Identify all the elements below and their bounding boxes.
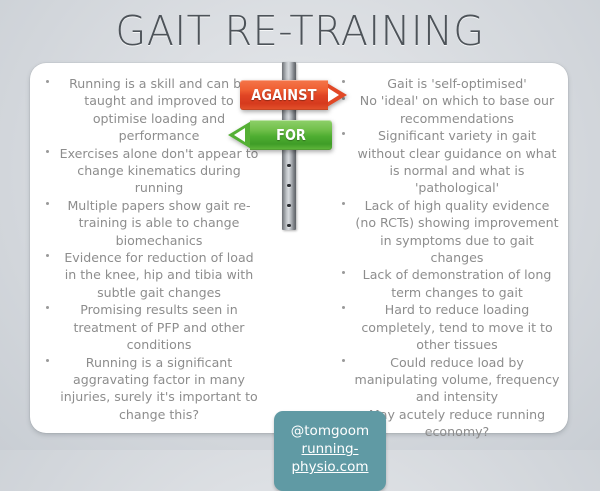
bullet-dot <box>46 80 49 83</box>
against-sign-label: AGAINST <box>246 80 322 110</box>
page-title: GAIT RE-TRAINING <box>9 6 591 56</box>
against-sign: AGAINST <box>240 80 348 110</box>
list-item: Promising results seen in treatment of P… <box>44 301 262 353</box>
list-item: Gait is 'self-optimised' <box>340 75 562 92</box>
list-item: Lack of demonstration of long term chang… <box>340 266 562 301</box>
column-against-side: Gait is 'self-optimised' No 'ideal' on w… <box>340 75 562 441</box>
bullet-dot <box>46 202 49 205</box>
list-item: No 'ideal' on which to base our recommen… <box>340 92 562 127</box>
bullet-dot <box>46 150 49 153</box>
contact-card[interactable]: @tomgoom running- physio.com <box>274 411 386 491</box>
list-item: Exercises alone don't appear to change k… <box>44 145 262 197</box>
for-sign: FOR <box>228 120 332 150</box>
website-link-line2[interactable]: physio.com <box>274 458 386 476</box>
website-link-line1[interactable]: running- <box>274 440 386 458</box>
list-item: Running is a significant aggravating fac… <box>44 354 262 424</box>
list-item: Significant variety in gait without clea… <box>340 127 562 197</box>
list-item: Lack of high quality evidence (no RCTs) … <box>340 197 562 267</box>
bullet-dot <box>46 306 49 309</box>
bullet-dot <box>46 359 49 362</box>
signpost-graphic: AGAINST FOR <box>232 62 364 232</box>
list-item: Hard to reduce loading completely, tend … <box>340 301 562 353</box>
list-item: Multiple papers show gait re-training is… <box>44 197 262 249</box>
bullet-dot <box>46 254 49 257</box>
chevron-left-icon <box>234 128 245 142</box>
list-item: Could reduce load by manipulating volume… <box>340 354 562 406</box>
for-sign-label: FOR <box>256 120 327 150</box>
list-item: Evidence for reduction of load in the kn… <box>44 249 262 301</box>
twitter-handle: @tomgoom <box>274 422 386 440</box>
bullet-dot <box>342 271 345 274</box>
chevron-right-icon <box>328 88 339 102</box>
bullet-dot <box>342 359 345 362</box>
bullet-dot <box>342 306 345 309</box>
